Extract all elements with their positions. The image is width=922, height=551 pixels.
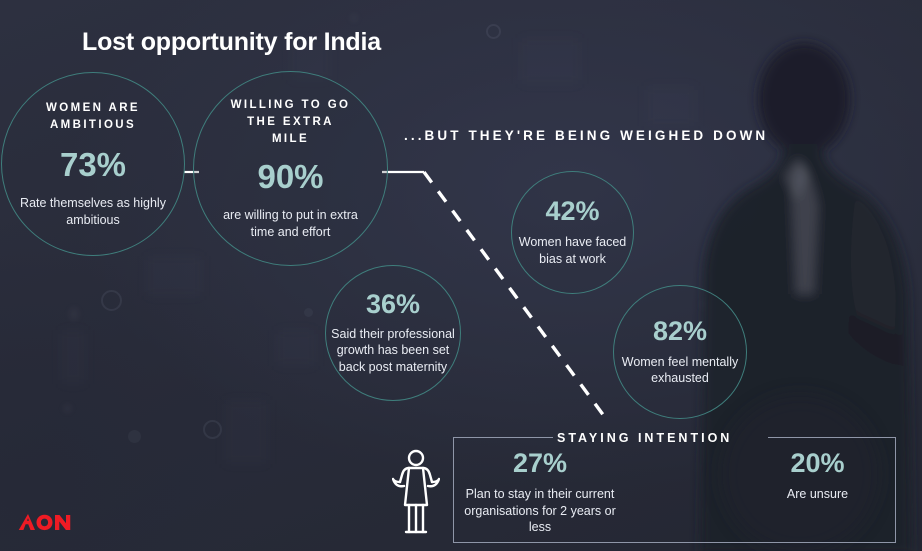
aon-logo (18, 511, 80, 533)
stat-description: Plan to stay in their current organisati… (455, 486, 625, 536)
stat-caption: WILLING TO GO THE EXTRA MILE (228, 97, 353, 148)
stat-percent: 36% (366, 291, 420, 318)
stat-percent: 82% (653, 318, 707, 345)
stat-percent: 90% (257, 160, 323, 193)
section-heading: ...BUT THEY'RE BEING WEIGHED DOWN (404, 128, 768, 143)
stat-percent: 42% (545, 198, 599, 225)
stat-description: Women feel mentally exhausted (617, 354, 743, 387)
stat-description: Said their professional growth has been … (330, 326, 456, 376)
stat-circle-women-are-ambitious: WOMEN ARE AMBITIOUS 73% Rate themselves … (1, 72, 185, 256)
stat-circle-extra-mile: WILLING TO GO THE EXTRA MILE 90% are wil… (193, 71, 388, 266)
stat-percent: 73% (60, 148, 126, 181)
stat-description: Rate themselves as highly ambitious (18, 195, 168, 228)
stat-percent: 27% (455, 450, 625, 477)
stat-description: Women have faced bias at work (514, 234, 632, 267)
stat-circle-professional-growth: 36% Said their professional growth has b… (325, 265, 461, 401)
woman-shrug-icon (392, 449, 440, 537)
infographic-canvas: Lost opportunity for India ...BUT THEY'R… (0, 0, 922, 551)
staying-intention-title: STAYING INTENTION (557, 431, 732, 445)
stat-percent: 20% (735, 450, 900, 477)
stat-circle-faced-bias: 42% Women have faced bias at work (511, 171, 634, 294)
stat-circle-mentally-exhausted: 82% Women feel mentally exhausted (613, 285, 747, 419)
staying-intention-item-plan-to-stay: 27% Plan to stay in their current organi… (455, 450, 625, 536)
stat-description: are willing to put in extra time and eff… (211, 207, 371, 240)
page-title: Lost opportunity for India (82, 28, 381, 57)
stat-caption: WOMEN ARE AMBITIOUS (23, 100, 163, 134)
stat-description: Are unsure (735, 486, 900, 503)
staying-intention-item-are-unsure: 20% Are unsure (735, 450, 900, 503)
